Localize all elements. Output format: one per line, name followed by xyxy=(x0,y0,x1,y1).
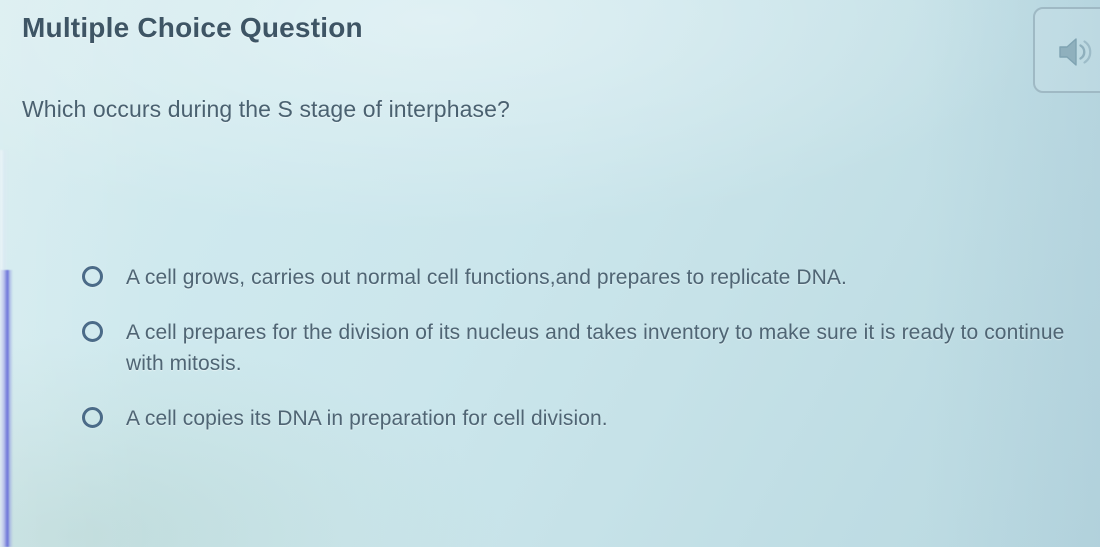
speaker-icon xyxy=(1057,35,1095,69)
answer-option-b-label: A cell prepares for the division of its … xyxy=(126,317,1070,379)
screen-edge-highlight xyxy=(0,150,9,280)
answer-option-c-label: A cell copies its DNA in preparation for… xyxy=(126,403,608,434)
question-prompt: Which occurs during the S stage of inter… xyxy=(22,96,510,123)
audio-play-button[interactable] xyxy=(1033,7,1100,93)
answer-option-a[interactable]: A cell grows, carries out normal cell fu… xyxy=(0,262,1100,293)
radio-button-c[interactable] xyxy=(82,407,103,428)
radio-button-a[interactable] xyxy=(82,266,103,287)
page-title: Multiple Choice Question xyxy=(22,12,363,44)
quiz-screen: Multiple Choice Question Which occurs du… xyxy=(0,0,1100,547)
answer-options-list: A cell grows, carries out normal cell fu… xyxy=(0,262,1100,458)
answer-option-c[interactable]: A cell copies its DNA in preparation for… xyxy=(0,403,1100,434)
answer-option-b[interactable]: A cell prepares for the division of its … xyxy=(0,317,1100,379)
answer-option-a-label: A cell grows, carries out normal cell fu… xyxy=(126,262,847,293)
radio-button-b[interactable] xyxy=(82,321,103,342)
